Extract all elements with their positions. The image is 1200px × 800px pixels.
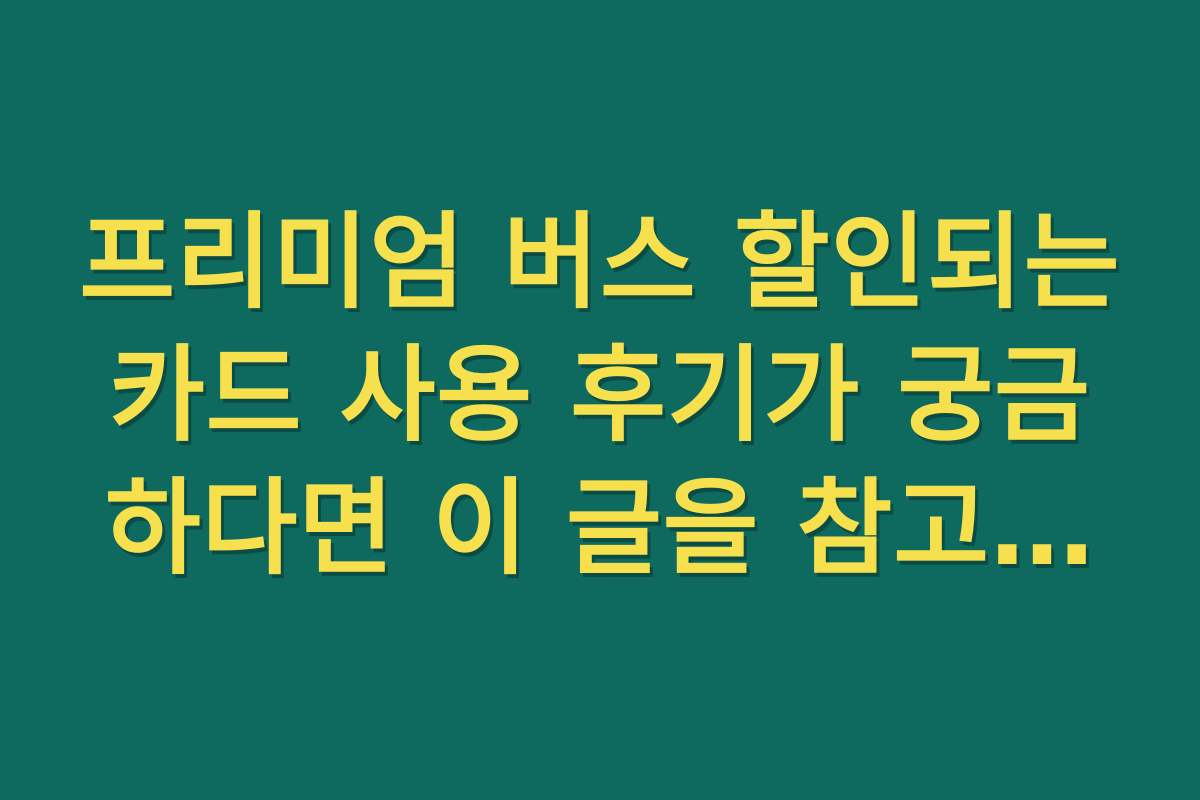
headline-block: 프리미엄 버스 할인되는 카드 사용 후기가 궁금 하다면 이 글을 참고… bbox=[70, 196, 1130, 595]
headline-line-3: 하다면 이 글을 참고… bbox=[70, 462, 1130, 595]
headline-line-2: 카드 사용 후기가 궁금 bbox=[70, 329, 1130, 462]
thumbnail-canvas: 프리미엄 버스 할인되는 카드 사용 후기가 궁금 하다면 이 글을 참고… bbox=[0, 0, 1200, 800]
headline-line-1: 프리미엄 버스 할인되는 bbox=[70, 196, 1130, 329]
